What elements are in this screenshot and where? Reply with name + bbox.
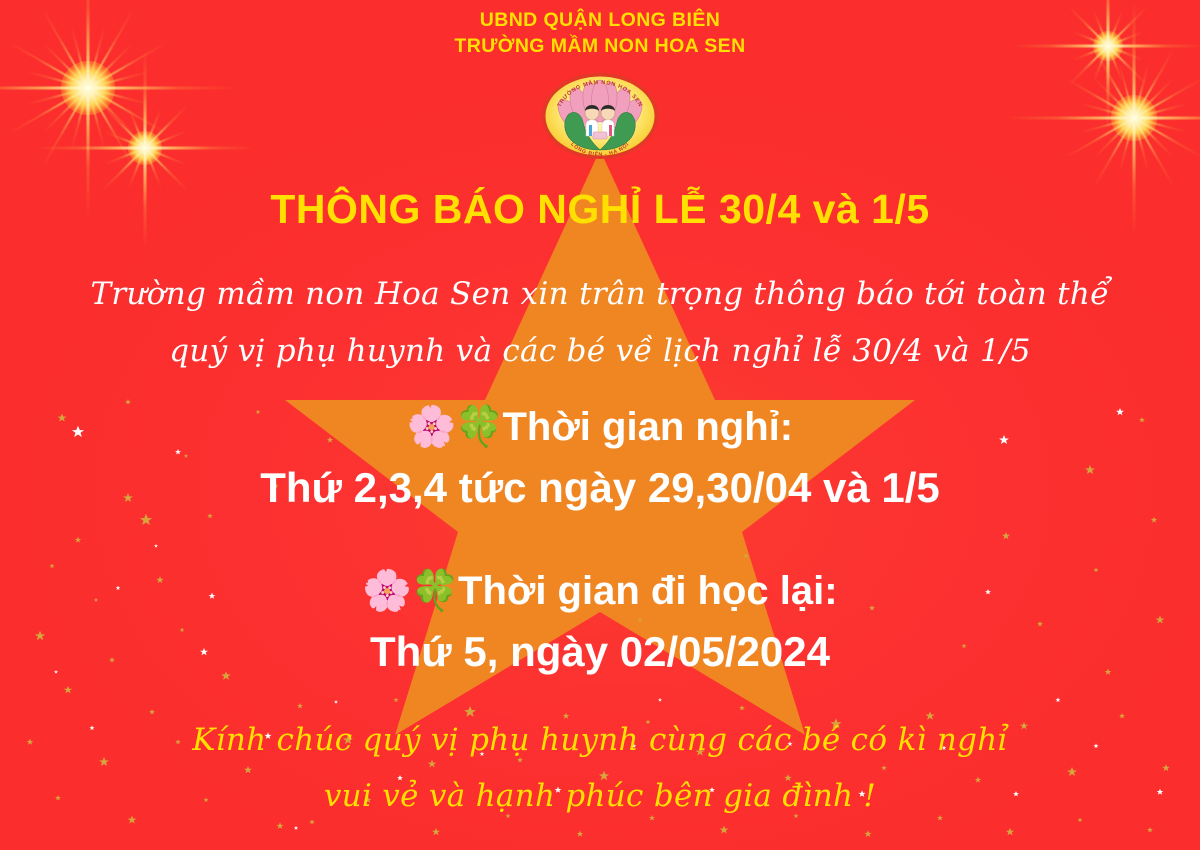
intro-line-2: quý vị phụ huynh và các bé về lịch nghỉ …: [0, 333, 1200, 369]
return-date-heading: 🌸🍀Thời gian đi học lại:: [0, 567, 1200, 614]
org-header-line2: TRƯỜNG MẦM NON HOA SEN: [0, 34, 1200, 60]
holiday-period-heading: 🌸🍀Thời gian nghỉ:: [0, 403, 1200, 450]
wish-line-1: Kính chúc quý vị phụ huynh cùng các bé c…: [0, 722, 1200, 758]
intro-line-1: Trường mầm non Hoa Sen xin trân trọng th…: [0, 276, 1200, 312]
return-date-value: Thứ 5, ngày 02/05/2024: [0, 628, 1200, 676]
wish-line-2: vui vẻ và hạnh phúc bên gia đình !: [0, 778, 1200, 814]
school-logo: TRƯỜNG MẦM NON HOA SEN LONG BIÊN - HÀ NỘ…: [539, 70, 661, 162]
return-date-heading-text: Thời gian đi học lại:: [458, 569, 838, 613]
org-header-line1: UBND QUẬN LONG BIÊN: [0, 8, 1200, 34]
holiday-period-heading-text: Thời gian nghỉ:: [503, 405, 794, 449]
page-title: THÔNG BÁO NGHỈ LỄ 30/4 và 1/5: [0, 186, 1200, 233]
flower-clover-icon-2: 🌸🍀: [362, 568, 458, 614]
holiday-period-dates: Thứ 2,3,4 tức ngày 29,30/04 và 1/5: [0, 464, 1200, 512]
poster-content: UBND QUẬN LONG BIÊN TRƯỜNG MẦM NON HOA S…: [0, 0, 1200, 850]
flower-clover-icon-1: 🌸🍀: [407, 404, 503, 450]
holiday-announcement-poster: UBND QUẬN LONG BIÊN TRƯỜNG MẦM NON HOA S…: [0, 0, 1200, 850]
organization-header: UBND QUẬN LONG BIÊN TRƯỜNG MẦM NON HOA S…: [0, 8, 1200, 59]
